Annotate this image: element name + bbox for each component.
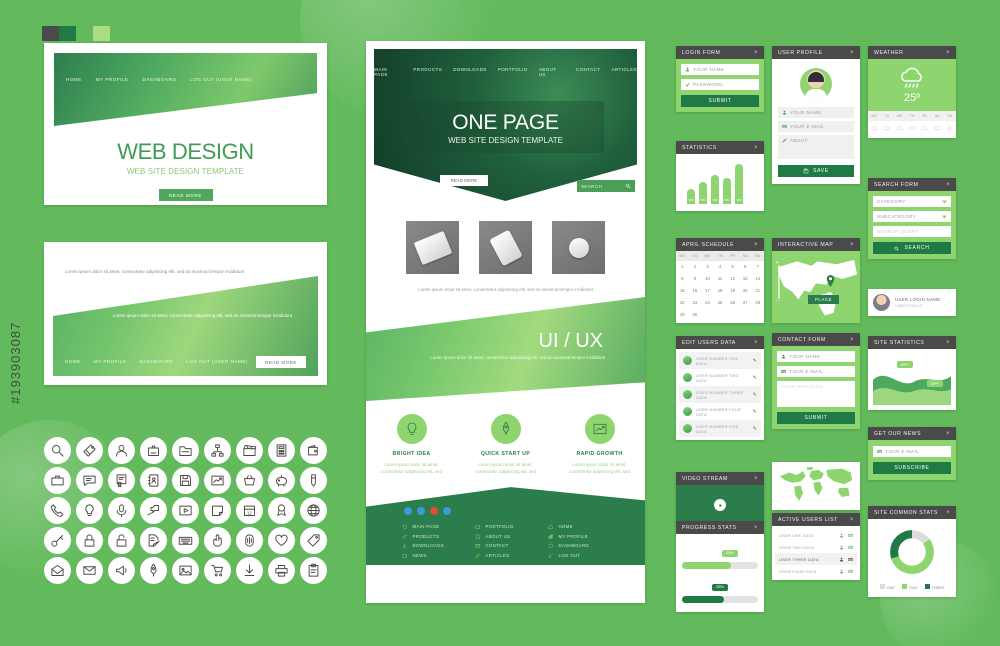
- footer-link-label: NEWS: [413, 553, 427, 558]
- message-field[interactable]: YOUR MESSAGE: [777, 381, 855, 407]
- user-login-card[interactable]: USER LOGIN NAME USER STATUS: [868, 289, 956, 316]
- close-icon[interactable]: ×: [946, 182, 950, 188]
- map-marker-icon[interactable]: [826, 275, 835, 287]
- footer-link-label: PRODUCTS: [413, 534, 440, 539]
- site-statistics-chart: 65% 55%: [868, 349, 956, 410]
- day-label: SU: [943, 114, 956, 118]
- id-badge-icon[interactable]: [140, 437, 167, 464]
- award-icon[interactable]: [268, 497, 295, 524]
- close-icon[interactable]: ×: [754, 50, 758, 56]
- shopping-cart-icon[interactable]: [204, 557, 231, 584]
- calendar-week: 29 30: [676, 308, 764, 323]
- chart-up-icon[interactable]: [204, 467, 231, 494]
- footer-link-my-profile[interactable]: MY PROFILE: [548, 534, 621, 540]
- list-item[interactable]: USER TWO DATA: [775, 541, 857, 553]
- calendar-day-empty: [726, 308, 739, 320]
- footer-link-main-page[interactable]: MAIN PAGE: [402, 524, 475, 530]
- cloud-icon: [881, 125, 894, 132]
- chart-icon: [548, 534, 554, 540]
- key-icon[interactable]: [44, 527, 71, 554]
- feature-title: BRIGHT IDEA: [379, 451, 445, 457]
- area-chart: 65% 55%: [873, 354, 951, 405]
- download-icon[interactable]: [236, 557, 263, 584]
- calendar[interactable]: MO TU WE TH FR SA SU 1 2 3 4 5 6 7 8 9 1…: [676, 251, 764, 323]
- footer-link-label: MAIN PAGE: [413, 524, 440, 529]
- video-player[interactable]: [676, 485, 764, 525]
- widget-title-bar: USER PROFILE ×: [772, 46, 860, 59]
- hero-banner: HOME MY PROFILE DASHBOARD LOG OUT (USER …: [54, 53, 317, 126]
- nav-item-my-profile[interactable]: MY PROFILE: [96, 77, 129, 82]
- field-placeholder: ABOUT: [790, 138, 808, 143]
- close-icon[interactable]: ×: [850, 337, 854, 343]
- nav-item-home[interactable]: HOME: [65, 359, 81, 364]
- email-field[interactable]: YOUR E-MAIL: [873, 446, 951, 457]
- name-field[interactable]: YOUR NAME: [778, 107, 854, 118]
- growth-chart-icon: [585, 414, 615, 444]
- hero-subtitle: WEB SITE DESIGN TEMPLATE: [408, 136, 604, 145]
- field-placeholder: YOUR NAME: [693, 67, 724, 72]
- subscribe-button[interactable]: SUBSCRIBE: [873, 462, 951, 474]
- footer-link-downloads[interactable]: DOWNLOADS: [402, 543, 475, 549]
- calendar-day[interactable]: 21: [751, 285, 764, 297]
- rocket-icon: [491, 414, 521, 444]
- googleplus-icon[interactable]: [430, 507, 438, 515]
- uiux-title: UI / UX: [539, 330, 603, 353]
- nav-item-dashboard[interactable]: DASHBOARD: [140, 359, 174, 364]
- footer-link-log-out[interactable]: LOG OUT: [548, 553, 621, 559]
- subcategory-select[interactable]: SUBCATEGORY: [873, 211, 951, 222]
- user-icon[interactable]: [839, 533, 844, 538]
- login-form-body: YOUR NAME PASSWORD SUBMIT: [676, 59, 764, 112]
- footer-link-contact[interactable]: CONTACT: [475, 543, 548, 549]
- lightbulb-icon: [397, 414, 427, 444]
- calendar-day[interactable]: 12: [726, 273, 739, 285]
- footer-link-products[interactable]: PRODUCTS: [402, 534, 475, 540]
- calendar-week: 15 16 17 18 19 20 21: [676, 285, 764, 297]
- mockup2-nav[interactable]: HOME MY PROFILE DASHBOARD LOG OUT (USER …: [65, 359, 248, 364]
- pencil-icon[interactable]: ✎: [753, 426, 757, 432]
- calendar-day[interactable]: 17: [701, 285, 714, 297]
- day-label: SA: [931, 114, 944, 118]
- search-icon: [894, 246, 899, 251]
- microphone-icon[interactable]: [108, 497, 135, 524]
- envelope-icon: [475, 543, 481, 549]
- list-item[interactable]: USER NUMBER THREE DATA ✎: [679, 386, 761, 403]
- close-icon[interactable]: ×: [754, 525, 758, 531]
- field-placeholder: YOUR E-MAIL: [790, 124, 824, 129]
- bar: 50%: [699, 182, 707, 204]
- widget-title: VIDEO STREAM: [682, 476, 728, 482]
- user-icon[interactable]: [839, 569, 844, 574]
- calendar-day[interactable]: 19: [726, 285, 739, 297]
- footer-link-dashboard[interactable]: DASHBOARD: [548, 543, 621, 549]
- calendar-day[interactable]: 26: [726, 296, 739, 308]
- mockup1-nav[interactable]: HOME MY PROFILE DASHBOARD LOG OUT (USER …: [66, 77, 252, 82]
- calendar-day[interactable]: 3: [701, 261, 714, 273]
- calendar-day[interactable]: 16: [689, 285, 702, 297]
- piggy-bank-icon[interactable]: [268, 467, 295, 494]
- widget-title: ACTIVE USERS LIST: [778, 517, 838, 523]
- close-icon[interactable]: ×: [946, 50, 950, 56]
- progress-bar[interactable]: [682, 596, 758, 603]
- zoom-out-icon[interactable]: −: [776, 299, 779, 304]
- calendar-day[interactable]: 1: [676, 261, 689, 273]
- nav-item-main-page[interactable]: MAIN PAGE: [374, 67, 402, 77]
- calendar-day[interactable]: 7: [751, 261, 764, 273]
- close-icon[interactable]: ×: [850, 242, 854, 248]
- name-field[interactable]: YOUR NAME: [777, 351, 855, 362]
- certificate-icon[interactable]: [108, 467, 135, 494]
- category-select[interactable]: CATEGORY: [873, 196, 951, 207]
- widget-title-bar: GET OUR NEWS ×: [868, 427, 956, 440]
- footer-link-articles[interactable]: ARTICLES: [475, 553, 548, 559]
- clapperboard-icon[interactable]: [236, 437, 263, 464]
- contact-form-body: YOUR NAME YOUR E-MAIL YOUR MESSAGE SUBMI…: [772, 346, 860, 429]
- megaphone-icon[interactable]: [108, 557, 135, 584]
- thumbnail-coffee-phone[interactable]: [552, 221, 605, 274]
- hand-pointer-icon[interactable]: [204, 527, 231, 554]
- save-disk-icon[interactable]: [172, 467, 199, 494]
- swatch-dark-green: [59, 26, 76, 41]
- calendar-day[interactable]: 27: [739, 296, 752, 308]
- nav-item-home[interactable]: HOME: [66, 77, 82, 82]
- briefcase-icon[interactable]: [44, 467, 71, 494]
- play-icon[interactable]: [714, 499, 726, 511]
- feature-text: Lorem ipsum dolor sit amet, consectetur …: [567, 461, 633, 475]
- bar-label: 60%: [723, 199, 731, 202]
- close-icon[interactable]: ×: [754, 340, 758, 346]
- field-placeholder: YOUR MESSAGE: [781, 384, 823, 389]
- hero-gradient: [54, 53, 317, 126]
- active-user-list: USER ONE DATA USER TWO DATA USER THREE D…: [772, 526, 860, 580]
- progress-label: 55%: [712, 584, 728, 591]
- user-icon[interactable]: [839, 545, 844, 550]
- rocket-icon[interactable]: [140, 557, 167, 584]
- day-label: TH: [906, 114, 919, 118]
- user-label: USER NUMBER THREE DATA: [696, 390, 749, 400]
- address-book-icon[interactable]: [140, 467, 167, 494]
- envelope-icon[interactable]: [76, 557, 103, 584]
- calendar-week: 22 23 24 25 26 27 28: [676, 296, 764, 308]
- template-sheet: #193903087 HOME MY PROFILE DASHBOARD LOG…: [0, 0, 1000, 646]
- pencil-icon[interactable]: ✎: [753, 358, 757, 364]
- calendar-day[interactable]: 29: [676, 308, 689, 320]
- calendar-day[interactable]: 11: [714, 273, 727, 285]
- search-icon: [625, 183, 631, 189]
- map-zoom-slider[interactable]: [778, 265, 780, 299]
- footer-link-label: CONTACT: [486, 543, 509, 548]
- email-field[interactable]: YOUR E-MAIL: [777, 366, 855, 377]
- user-name: USER LOGIN NAME: [895, 297, 941, 302]
- fingerprint-icon[interactable]: [236, 527, 263, 554]
- nav-item-portfolio[interactable]: PORTFOLIO: [498, 67, 528, 77]
- video-stream-widget: VIDEO STREAM ×: [676, 472, 764, 525]
- page-subtitle: WEB SITE DESIGN TEMPLATE: [54, 167, 317, 176]
- user-label: USER NUMBER TWO DATA: [696, 373, 749, 383]
- linkedin-icon[interactable]: [443, 507, 451, 515]
- field-placeholder: YOUR E-MAIL: [885, 449, 919, 454]
- nav-item-dashboard[interactable]: DASHBOARD: [143, 77, 177, 82]
- mail-icon[interactable]: [848, 533, 853, 538]
- calendar-day[interactable]: 4: [714, 261, 727, 273]
- close-icon[interactable]: ×: [946, 431, 950, 437]
- search-icon[interactable]: [44, 437, 71, 464]
- hero-title: ONE PAGE: [408, 111, 604, 135]
- basket-icon[interactable]: [236, 467, 263, 494]
- avatar: [683, 373, 692, 382]
- nav-item-log-out[interactable]: LOG OUT (USER NAME): [186, 359, 248, 364]
- zoom-in-icon[interactable]: +: [776, 261, 779, 266]
- calendar-day[interactable]: 20: [739, 285, 752, 297]
- close-icon[interactable]: ×: [850, 50, 854, 56]
- globe-icon[interactable]: [300, 497, 327, 524]
- chevron-down-icon: [942, 200, 947, 204]
- bar-label: 35%: [687, 199, 695, 202]
- search-form-body: CATEGORY SUBCATEGORY SEARCH QUERY SEARCH: [868, 191, 956, 259]
- clipboard-icon[interactable]: [300, 557, 327, 584]
- footer-link-portfolio[interactable]: PORTFOLIO: [475, 524, 548, 530]
- close-icon[interactable]: ×: [850, 517, 854, 523]
- password-field[interactable]: PASSWORD: [681, 79, 759, 90]
- pencil-icon[interactable]: ✎: [753, 375, 757, 381]
- user-profile-body: YOUR NAME YOUR E-MAIL ABOUT SAVE: [772, 59, 860, 184]
- search-button[interactable]: SEARCH: [873, 242, 951, 254]
- list-item[interactable]: USER THREE DATA: [775, 553, 857, 565]
- read-more-button[interactable]: READ MORE: [256, 356, 306, 368]
- calculator-icon[interactable]: [268, 437, 295, 464]
- user-label: USER FOUR DATA: [779, 569, 817, 574]
- list-item[interactable]: USER FOUR DATA: [775, 565, 857, 577]
- calendar-day[interactable]: 10: [701, 273, 714, 285]
- calendar-week: 8 9 10 11 12 13 14: [676, 273, 764, 285]
- search-query-input[interactable]: SEARCH QUERY: [873, 226, 951, 237]
- leaf-icon: [402, 534, 408, 540]
- avatar: [683, 407, 692, 416]
- april-schedule-widget: APRIL SCHEDULE × MO TU WE TH FR SA SU 1 …: [676, 238, 764, 323]
- calendar-day[interactable]: 9: [689, 273, 702, 285]
- calendar-day[interactable]: 2: [689, 261, 702, 273]
- progress-bar[interactable]: [682, 562, 758, 569]
- day-header: WE: [701, 251, 714, 261]
- calendar-day[interactable]: 24: [701, 296, 714, 308]
- user-icon[interactable]: [839, 557, 844, 562]
- weather-widget: WEATHER × 25º MO TU WE TH FR SA SU: [868, 46, 956, 138]
- close-icon[interactable]: ×: [754, 145, 758, 151]
- world-map-icon: [776, 466, 856, 506]
- calendar-day[interactable]: 25: [714, 296, 727, 308]
- bar-label: 65%: [711, 199, 719, 202]
- calendar-day[interactable]: 13: [739, 273, 752, 285]
- chat-bubble-icon[interactable]: [76, 467, 103, 494]
- legend-item-two: TWO: [902, 584, 918, 590]
- calendar-day[interactable]: 28: [751, 296, 764, 308]
- rain-cloud-icon: [897, 67, 927, 89]
- user-list: USER NUMBER ONE DATA ✎ USER NUMBER TWO D…: [676, 349, 764, 440]
- nav-item-downloads[interactable]: DOWNLOADS: [453, 67, 487, 77]
- login-form-widget: LOGIN FORM × YOUR NAME PASSWORD SUBMIT: [676, 46, 764, 112]
- map-canvas[interactable]: + − PLACE: [772, 251, 860, 323]
- keyboard-icon[interactable]: [172, 527, 199, 554]
- field-placeholder: PASSWORD: [693, 82, 723, 87]
- submit-button[interactable]: SUBMIT: [777, 412, 855, 424]
- widget-title: INTERACTIVE MAP: [778, 242, 833, 248]
- list-item[interactable]: USER NUMBER ONE DATA ✎: [679, 352, 761, 369]
- twitter-icon[interactable]: [417, 507, 425, 515]
- site-statistics-widget: SITE STATISTICS × 65% 55%: [868, 336, 956, 410]
- widget-title-bar: LOGIN FORM ×: [676, 46, 764, 59]
- data-label: 55%: [927, 380, 943, 387]
- mail-icon[interactable]: [848, 557, 853, 562]
- save-button[interactable]: SAVE: [778, 165, 854, 177]
- search-input[interactable]: SEARCH: [581, 184, 602, 189]
- one-page-mockup: MAIN PAGE PRODUCTS DOWNLOADS PORTFOLIO A…: [366, 41, 645, 603]
- tag-price-icon[interactable]: [76, 437, 103, 464]
- mail-icon[interactable]: [848, 569, 853, 574]
- uiux-text: Lorem ipsum dolor sit amet, consectetur …: [430, 354, 605, 361]
- lock-open-icon[interactable]: [108, 527, 135, 554]
- temperature: 25º: [868, 92, 956, 104]
- footer-link-home[interactable]: HOME: [548, 524, 621, 530]
- calendar-day[interactable]: 23: [689, 296, 702, 308]
- folder-icon[interactable]: [172, 437, 199, 464]
- user-icon[interactable]: [108, 437, 135, 464]
- footer-link-label: DASHBOARD: [559, 543, 590, 548]
- sticker-icon[interactable]: [204, 497, 231, 524]
- user-icon: [685, 67, 690, 72]
- nav-item-contact[interactable]: CONTACT: [576, 67, 601, 77]
- one-page-nav[interactable]: MAIN PAGE PRODUCTS DOWNLOADS PORTFOLIO A…: [374, 67, 637, 77]
- calendar-icon[interactable]: 12: [236, 497, 263, 524]
- printer-icon[interactable]: [268, 557, 295, 584]
- lightbulb-icon[interactable]: [76, 497, 103, 524]
- close-icon[interactable]: ×: [754, 242, 758, 248]
- gauge-icon: [548, 543, 554, 549]
- uiux-gradient: [366, 297, 645, 401]
- download-icon: [402, 543, 408, 549]
- key-icon: [548, 553, 554, 559]
- edit-users-widget: EDIT USERS DATA × USER NUMBER ONE DATA ✎…: [676, 336, 764, 440]
- features-row: BRIGHT IDEA Lorem ipsum dolor sit amet, …: [374, 414, 637, 475]
- mail-icon[interactable]: [848, 545, 853, 550]
- list-item[interactable]: USER NUMBER FOUR DATA ✎: [679, 403, 761, 420]
- read-more-button[interactable]: READ MORE: [440, 175, 488, 186]
- list-item[interactable]: USER NUMBER FIVE DATA ✎: [679, 420, 761, 437]
- widget-title-bar: SITE STATISTICS ×: [868, 336, 956, 349]
- calendar-day[interactable]: 8: [676, 273, 689, 285]
- calendar-day[interactable]: 6: [739, 261, 752, 273]
- mockup-secondary: Lorem ipsum dolor sit amet, consectetur …: [44, 242, 327, 385]
- nav-item-about-us[interactable]: ABOUT US: [539, 67, 565, 77]
- feature-text: Lorem ipsum dolor sit amet, consectetur …: [379, 461, 445, 475]
- uiux-banner: UI / UX Lorem ipsum dolor sit amet, cons…: [366, 297, 645, 401]
- nav-item-articles[interactable]: ARTICLES: [611, 67, 637, 77]
- about-field[interactable]: ABOUT: [778, 135, 854, 159]
- pencil-icon[interactable]: ✎: [753, 409, 757, 415]
- newsletter-body: YOUR E-MAIL SUBSCRIBE: [868, 440, 956, 480]
- user-label: USER NUMBER FIVE DATA: [696, 424, 749, 434]
- video-play-icon[interactable]: [172, 497, 199, 524]
- lock-closed-icon[interactable]: [76, 527, 103, 554]
- calendar-day[interactable]: 15: [676, 285, 689, 297]
- user-label: USER NUMBER ONE DATA: [696, 356, 749, 366]
- footer-link-about-us[interactable]: ABOUT US: [475, 534, 548, 540]
- legend-item-three: THREE: [925, 584, 945, 590]
- swatch-dark-gray: [42, 26, 59, 41]
- close-icon[interactable]: ×: [754, 476, 758, 482]
- nav-item-products[interactable]: PRODUCTS: [413, 67, 442, 77]
- image-icon[interactable]: [172, 557, 199, 584]
- social-icons[interactable]: [404, 507, 451, 515]
- read-more-button[interactable]: READ MORE: [159, 189, 213, 201]
- book-icon: [475, 534, 481, 540]
- widget-title: SITE STATISTICS: [874, 340, 924, 346]
- close-icon[interactable]: ×: [946, 340, 950, 346]
- legend-label: THREE: [932, 586, 945, 590]
- envelope-open-icon[interactable]: [44, 557, 71, 584]
- thumbnail-laptop[interactable]: [406, 221, 459, 274]
- sitemap-icon[interactable]: [204, 437, 231, 464]
- footer-link-news[interactable]: NEWS: [402, 553, 475, 559]
- heart-icon[interactable]: [268, 527, 295, 554]
- nav-item-my-profile[interactable]: MY PROFILE: [94, 359, 127, 364]
- user-icon: [781, 354, 786, 359]
- widget-title-bar: SITE COMMON STATS ×: [868, 506, 956, 519]
- calendar-week: 1 2 3 4 5 6 7: [676, 261, 764, 273]
- widget-title: GET OUR NEWS: [874, 431, 921, 437]
- bar-chart: 35% 50% 65% 60% 90%: [683, 160, 757, 204]
- calendar-day[interactable]: 18: [714, 285, 727, 297]
- widget-title-bar: VIDEO STREAM ×: [676, 472, 764, 485]
- query-placeholder: SEARCH QUERY: [877, 229, 918, 234]
- pen-icon[interactable]: [300, 467, 327, 494]
- footer-link-label: MY PROFILE: [559, 534, 589, 539]
- page-title: WEB DESIGN: [54, 139, 317, 165]
- donut-chart: [885, 525, 939, 579]
- widget-title-bar: STATISTICS ×: [676, 141, 764, 154]
- pushpin-icon[interactable]: [140, 497, 167, 524]
- calendar-day[interactable]: 5: [726, 261, 739, 273]
- legend-item-one: ONE: [880, 584, 895, 590]
- list-item[interactable]: USER NUMBER TWO DATA ✎: [679, 369, 761, 386]
- facebook-icon[interactable]: [404, 507, 412, 515]
- calendar-day-empty: [739, 308, 752, 320]
- calendar-day[interactable]: 22: [676, 296, 689, 308]
- day-label: MO: [868, 114, 881, 118]
- thumbnail-tablet[interactable]: [479, 221, 532, 274]
- list-item[interactable]: USER ONE DATA: [775, 529, 857, 541]
- edit-document-icon[interactable]: [140, 527, 167, 554]
- interactive-map-widget: INTERACTIVE MAP × + − PLACE: [772, 238, 860, 323]
- phone-icon[interactable]: [44, 497, 71, 524]
- progress-stats-widget: PROGRESS STATS × 65% 55%: [676, 521, 764, 612]
- tag-icon[interactable]: [300, 527, 327, 554]
- calendar-day[interactable]: 30: [689, 308, 702, 320]
- wallet-icon[interactable]: [300, 437, 327, 464]
- calendar-day-empty: [751, 308, 764, 320]
- close-icon[interactable]: ×: [946, 510, 950, 516]
- search-bar[interactable]: SEARCH: [577, 180, 635, 192]
- name-field[interactable]: YOUR NAME: [681, 64, 759, 75]
- progress-fill: [682, 596, 724, 603]
- pencil-icon[interactable]: ✎: [753, 392, 757, 398]
- active-users-widget: ACTIVE USERS LIST × USER ONE DATA USER T…: [772, 513, 860, 580]
- submit-button[interactable]: SUBMIT: [681, 95, 759, 107]
- nav-item-log-out[interactable]: LOG OUT (USER NAME): [190, 77, 252, 82]
- email-field[interactable]: YOUR E-MAIL: [778, 121, 854, 132]
- calendar-day[interactable]: 14: [751, 273, 764, 285]
- user-status: USER STATUS: [895, 303, 941, 308]
- widget-title: EDIT USERS DATA: [682, 340, 736, 346]
